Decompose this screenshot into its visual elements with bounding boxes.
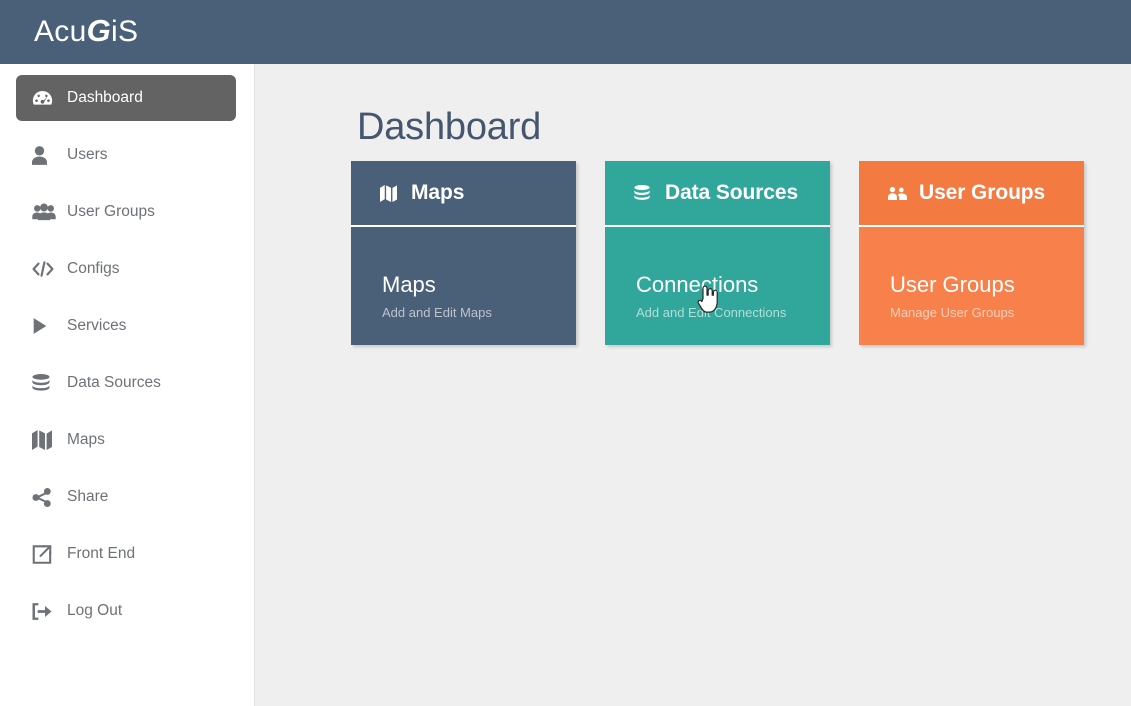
map-icon	[380, 183, 402, 203]
page-title: Dashboard	[357, 106, 541, 149]
sidebar-item-label: Configs	[67, 261, 120, 277]
sidebar-item-user-groups[interactable]: User Groups	[16, 189, 236, 235]
card-body-subtitle: Add and Edit Maps	[382, 306, 576, 319]
card-header-title: User Groups	[919, 181, 1045, 205]
card-header-title: Maps	[411, 181, 464, 205]
share-icon	[32, 486, 58, 508]
sidebar-item-users[interactable]: Users	[16, 132, 236, 178]
sidebar-item-label: User Groups	[67, 204, 155, 220]
card-header-maps: Maps	[351, 161, 576, 227]
sidebar-item-label: Services	[67, 318, 126, 334]
sidebar-item-label: Maps	[67, 432, 105, 448]
card-header-title: Data Sources	[665, 181, 798, 205]
brand-text-before: Acu	[34, 15, 87, 48]
card-body-user-groups[interactable]: User Groups Manage User Groups	[859, 227, 1084, 345]
gauge-icon	[32, 87, 58, 109]
card-header-user-groups: User Groups	[859, 161, 1084, 227]
card-body-subtitle: Manage User Groups	[890, 306, 1084, 319]
user-icon	[32, 144, 58, 166]
dashboard-card-user-groups[interactable]: User Groups User Groups Manage User Grou…	[859, 161, 1084, 345]
card-body-title: Maps	[382, 274, 576, 296]
sidebar-item-label: Front End	[67, 546, 135, 562]
card-body-connections[interactable]: Connections Add and Edit Connections	[605, 227, 830, 345]
card-body-subtitle: Add and Edit Connections	[636, 306, 830, 319]
sidebar-item-log-out[interactable]: Log Out	[16, 588, 236, 634]
card-header-data-sources: Data Sources	[605, 161, 830, 227]
card-body-title: Connections	[636, 274, 830, 296]
users-group-icon	[32, 201, 58, 223]
brand-logo[interactable]: AcuGiS	[34, 13, 138, 49]
external-link-icon	[32, 543, 58, 565]
dashboard-card-row: Maps Maps Add and Edit Maps	[351, 161, 1084, 345]
dashboard-card-maps[interactable]: Maps Maps Add and Edit Maps	[351, 161, 576, 345]
main-content: Dashboard Maps Maps Add and E	[255, 64, 1131, 706]
database-icon	[32, 372, 58, 394]
brand-text-accent: G	[87, 13, 111, 48]
sidebar-item-label: Share	[67, 489, 108, 505]
play-icon	[32, 315, 58, 337]
sidebar-item-data-sources[interactable]: Data Sources	[16, 360, 236, 406]
sidebar-item-services[interactable]: Services	[16, 303, 236, 349]
logout-icon	[32, 600, 58, 622]
app-root: AcuGiS Dashboard	[0, 0, 1131, 706]
map-icon	[32, 429, 58, 451]
dashboard-card-data-sources[interactable]: Data Sources Connections Add and Edit Co…	[605, 161, 830, 345]
sidebar-item-label: Users	[67, 147, 107, 163]
sidebar-item-maps[interactable]: Maps	[16, 417, 236, 463]
sidebar-item-label: Data Sources	[67, 375, 161, 391]
card-body-title: User Groups	[890, 274, 1084, 296]
sidebar-item-share[interactable]: Share	[16, 474, 236, 520]
sidebar-item-dashboard[interactable]: Dashboard	[16, 75, 236, 121]
sidebar-item-label: Log Out	[67, 603, 122, 619]
top-header-bar: AcuGiS	[0, 0, 1131, 64]
sidebar-item-configs[interactable]: Configs	[16, 246, 236, 292]
database-icon	[634, 183, 656, 203]
users-group-icon	[888, 183, 910, 203]
sidebar-item-label: Dashboard	[67, 90, 143, 106]
code-icon	[32, 258, 58, 280]
card-body-maps[interactable]: Maps Add and Edit Maps	[351, 227, 576, 345]
brand-text-after: iS	[111, 15, 138, 48]
sidebar-item-front-end[interactable]: Front End	[16, 531, 236, 577]
sidebar-nav: Dashboard Users	[0, 64, 255, 706]
